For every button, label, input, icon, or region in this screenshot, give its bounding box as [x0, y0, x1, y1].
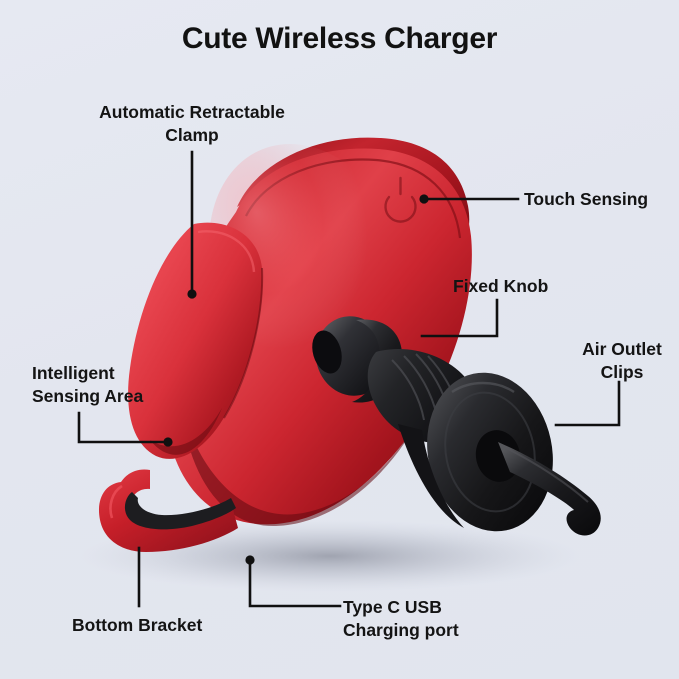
- infographic-canvas: Cute Wireless Charger: [0, 0, 679, 679]
- callout-label-intelligent-sensing-area: Intelligent Sensing Area: [32, 362, 143, 409]
- callout-label-type-c-usb-charging-port: Type C USB Charging port: [343, 596, 459, 643]
- callout-label-automatic-retractable-clamp: Automatic Retractable Clamp: [94, 101, 290, 148]
- callout-label-bottom-bracket: Bottom Bracket: [72, 614, 202, 637]
- callout-label-touch-sensing: Touch Sensing: [524, 188, 648, 211]
- callout-label-fixed-knob: Fixed Knob: [453, 275, 548, 298]
- callout-label-air-outlet-clips: Air Outlet Clips: [572, 338, 672, 385]
